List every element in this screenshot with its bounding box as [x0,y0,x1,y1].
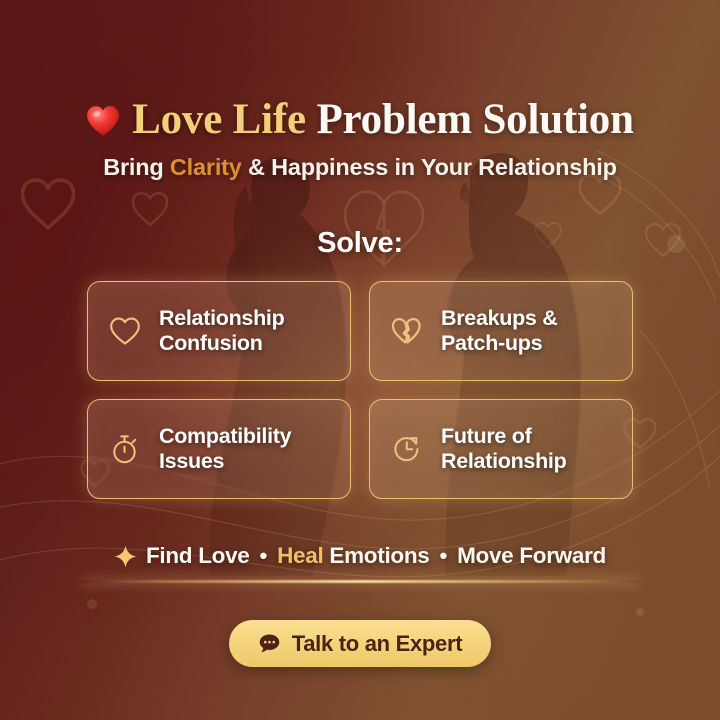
chat-bubble-icon [258,632,281,655]
talk-to-expert-button[interactable]: Talk to an Expert [229,620,491,667]
tagline-separator-2: • [439,543,449,569]
tagline-part3: Move Forward [457,543,606,569]
tagline-part1: Find Love [146,543,250,569]
sparkle-star-icon [114,545,137,568]
future-clock-icon [390,432,424,466]
broken-heart-icon [390,314,424,348]
title-white-part: Problem Solution [316,96,633,143]
card-label-line1: Future of [441,424,566,449]
card-label-line2: Relationship [441,449,566,474]
card-label: Breakups & Patch-ups [441,306,558,356]
subtitle-accent: Clarity [170,154,242,180]
tagline-part2: Emotions [323,543,429,568]
title-gold-part: Love Life [132,96,306,143]
heart-outline-icon [108,314,142,348]
card-label-line2: Patch-ups [441,331,558,356]
tagline-accent: Heal [277,543,323,568]
card-label-line2: Issues [159,449,291,474]
card-label: Future of Relationship [441,424,566,474]
headline-row: Love Life Problem Solution [86,98,634,141]
page-title: Love Life Problem Solution [132,98,634,141]
red-heart-emoji-icon [86,105,120,137]
subtitle-after: & Happiness in Your Relationship [242,154,617,180]
stopwatch-icon [108,432,142,466]
subtitle-before: Bring [103,154,170,180]
card-label-line1: Relationship [159,306,284,331]
card-label-line1: Breakups & [441,306,558,331]
card-label-line1: Compatibility [159,424,291,449]
tagline-separator-1: • [259,543,269,569]
poster-content: Love Life Problem Solution Bring Clarity… [0,0,720,720]
solve-label: Solve: [317,227,403,260]
card-relationship-confusion[interactable]: Relationship Confusion [87,281,351,381]
card-compatibility-issues[interactable]: Compatibility Issues [87,399,351,499]
tagline-section: Find Love • Heal Emotions • Move Forward [0,543,720,583]
poster-canvas: Love Life Problem Solution Bring Clarity… [0,0,720,720]
card-label: Compatibility Issues [159,424,291,474]
card-label-line2: Confusion [159,331,284,356]
cta-label: Talk to an Expert [292,631,463,657]
tagline-glow-divider [82,580,638,583]
card-future-of-relationship[interactable]: Future of Relationship [369,399,633,499]
solve-cards-grid: Relationship Confusion Breakups & Patch-… [87,281,633,499]
card-label: Relationship Confusion [159,306,284,356]
subtitle: Bring Clarity & Happiness in Your Relati… [103,154,617,181]
card-breakups-patchups[interactable]: Breakups & Patch-ups [369,281,633,381]
tagline: Find Love • Heal Emotions • Move Forward [114,543,606,569]
